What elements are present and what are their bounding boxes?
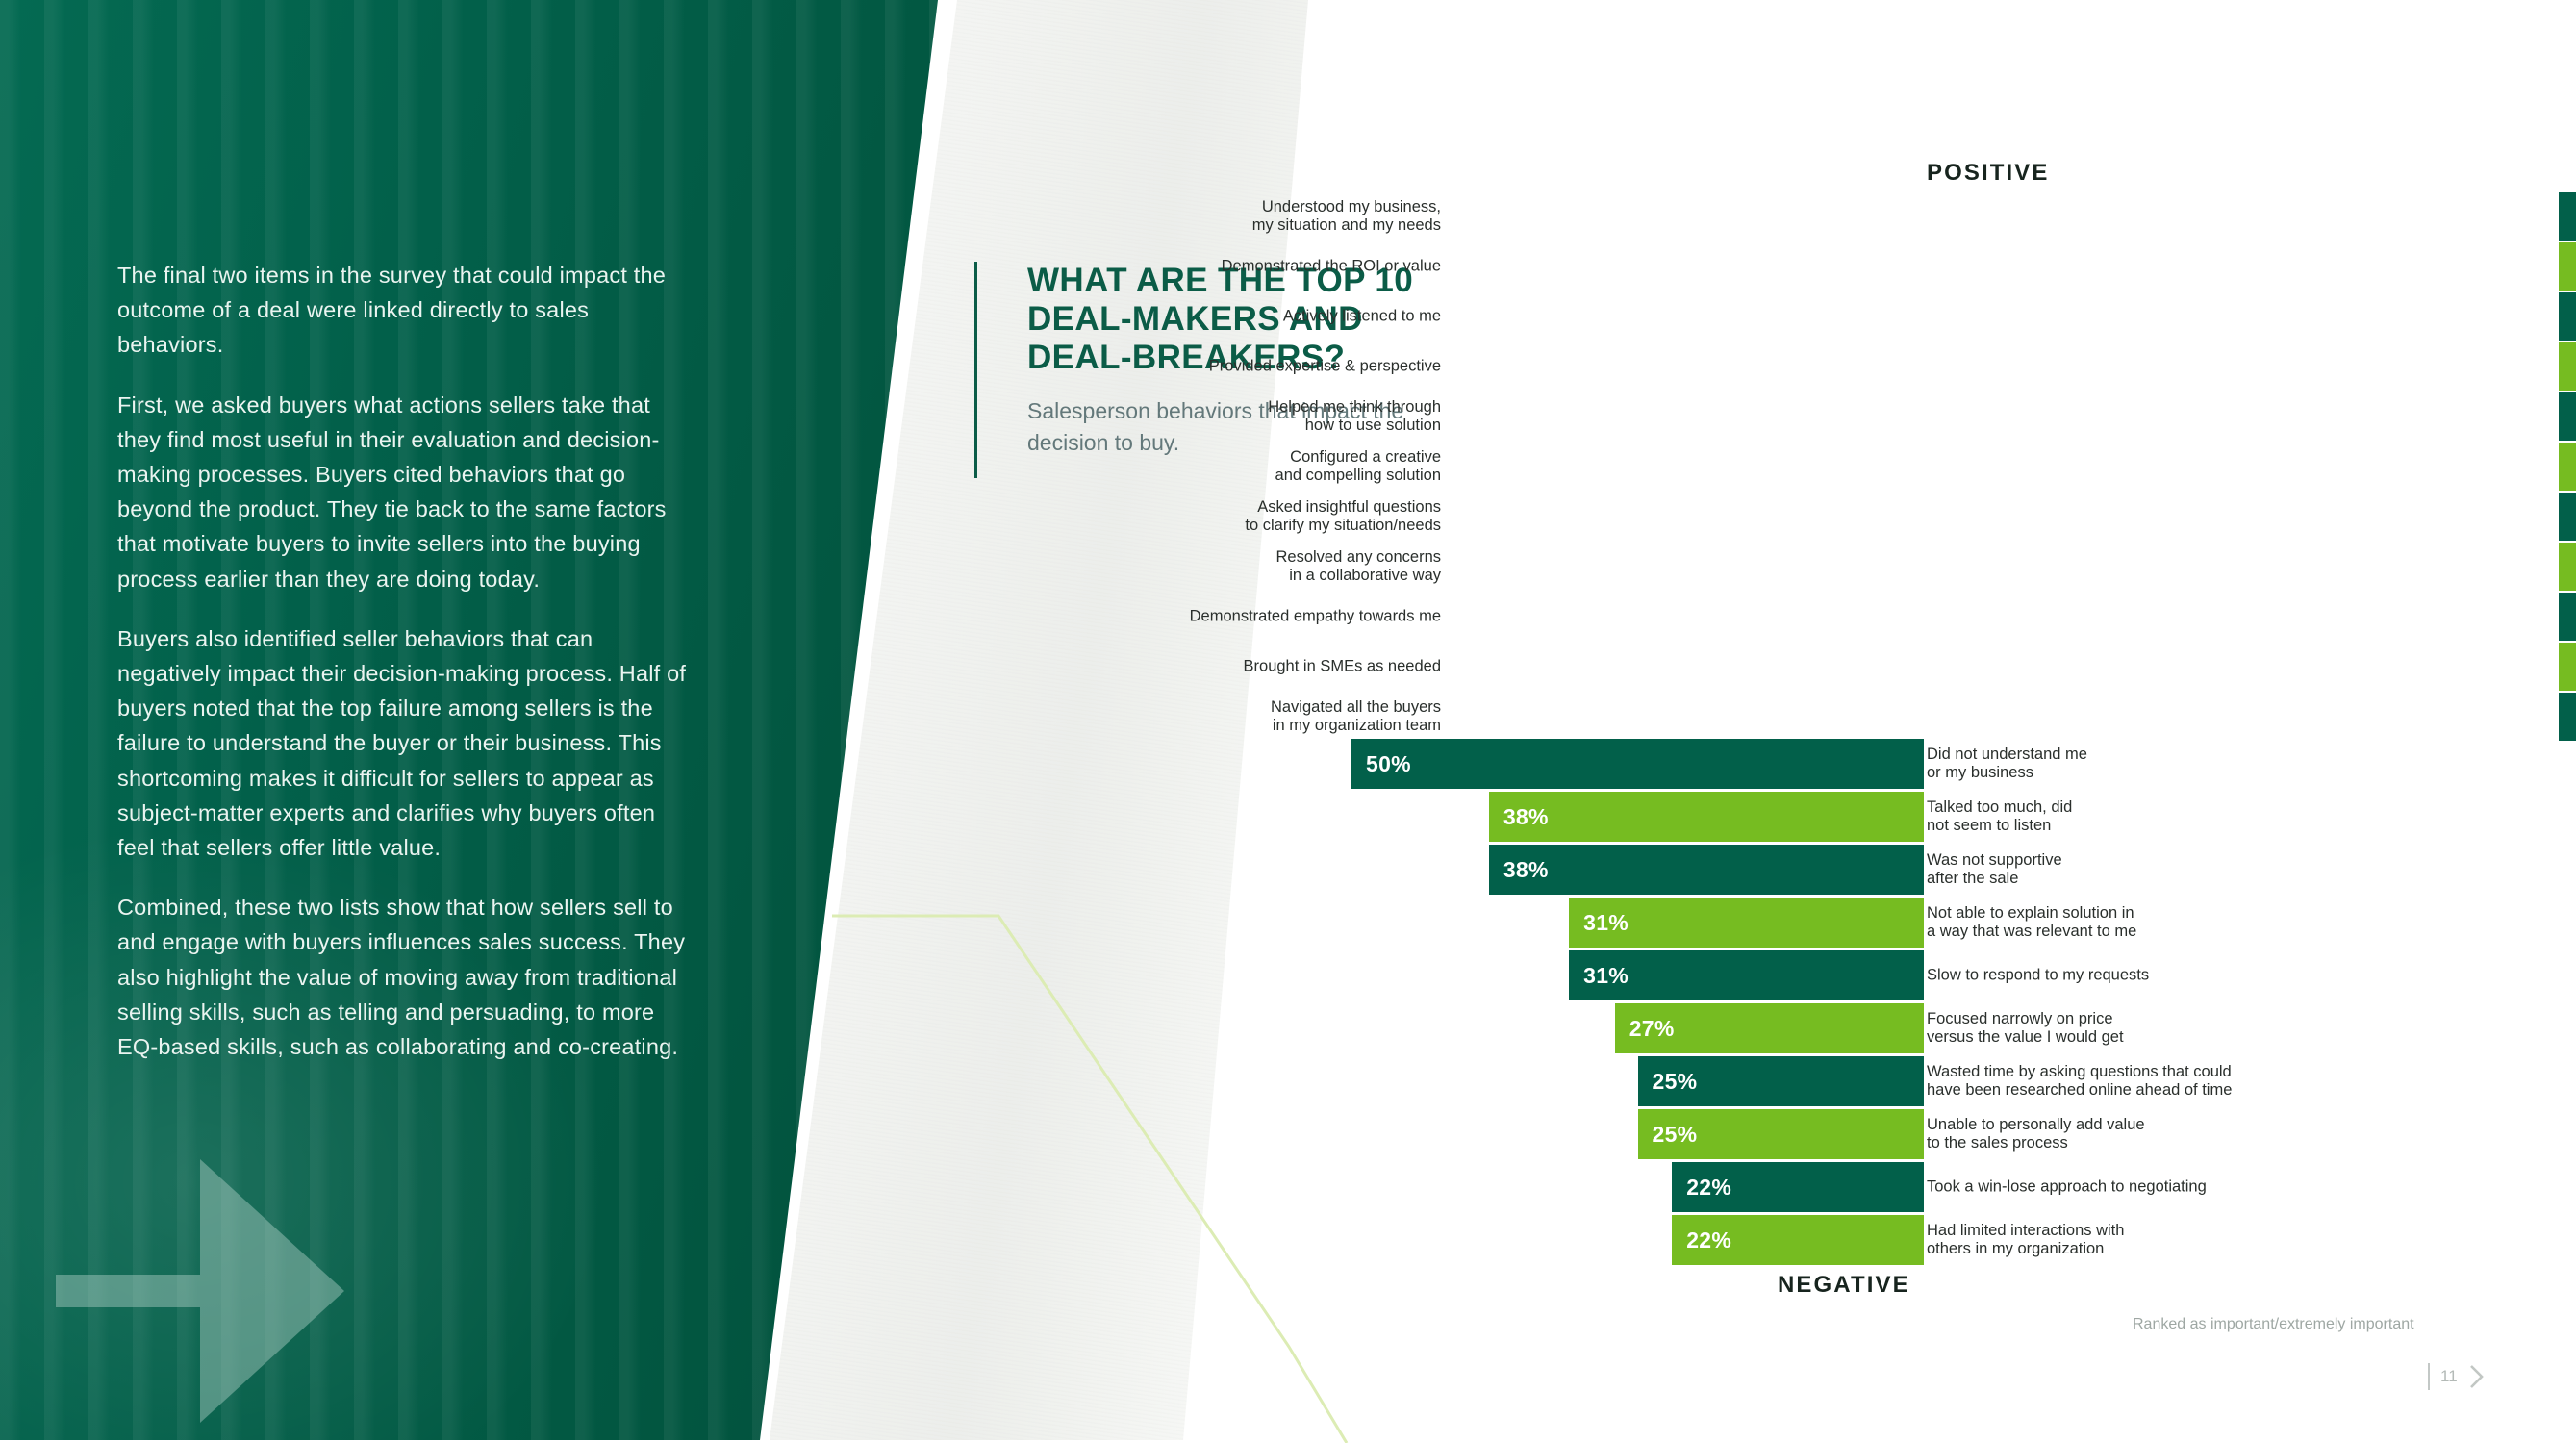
negative-bar: 22%: [1672, 1215, 1924, 1265]
negative-bar-row: 50%Did not understand me or my business: [962, 739, 2559, 789]
negative-bar-row: 38%Talked too much, did not seem to list…: [962, 792, 2559, 842]
negative-bar-row: 31%Slow to respond to my requests: [962, 950, 2559, 1000]
negative-bar-row: 22%Had limited interactions with others …: [962, 1215, 2559, 1265]
page-rule: [2428, 1363, 2430, 1390]
positive-bar-group: Understood my business, my situation and…: [1443, 192, 2559, 743]
negative-bar-value: 31%: [1569, 910, 1629, 936]
negative-bar-value: 22%: [1672, 1228, 1731, 1253]
negative-bar-row: 25%Unable to personally add value to the…: [962, 1109, 2559, 1159]
negative-bar: 31%: [1569, 898, 1924, 948]
positive-bar-label: Demonstrated the ROI or value: [864, 258, 1441, 276]
negative-bar-row: 31%Not able to explain solution in a way…: [962, 898, 2559, 948]
positive-bar-row: Provided expertise & perspective39%: [1443, 342, 2559, 391]
negative-bar-label: Did not understand me or my business: [1927, 746, 2542, 782]
chart-area: POSITIVE Understood my business, my situ…: [0, 0, 2576, 1440]
positive-bar: 27%: [2559, 643, 2576, 691]
positive-bar: 39%: [2559, 292, 2576, 341]
negative-bar: 25%: [1638, 1056, 1925, 1106]
negative-bar-value: 25%: [1638, 1122, 1698, 1148]
negative-bar-label: Was not supportive after the sale: [1927, 851, 2542, 888]
negative-bar-value: 38%: [1489, 857, 1549, 883]
negative-bar-row: 38%Was not supportive after the sale: [962, 845, 2559, 895]
page-marker: 11: [2428, 1363, 2485, 1390]
negative-bar: 27%: [1615, 1003, 1924, 1053]
positive-bar-row: Configured a creative and compelling sol…: [1443, 443, 2559, 491]
positive-bar: 32%: [2559, 443, 2576, 491]
page-number: 11: [2440, 1367, 2458, 1386]
positive-bar-label: Helped me think through how to use solut…: [864, 398, 1441, 435]
negative-bar: 22%: [1672, 1162, 1924, 1212]
positive-section-title: POSITIVE: [1927, 160, 2050, 187]
positive-bar-row: Helped me think through how to use solut…: [1443, 392, 2559, 441]
negative-bar-label: Had limited interactions with others in …: [1927, 1222, 2542, 1258]
negative-bar-value: 50%: [1351, 751, 1411, 777]
positive-bar-row: Navigated all the buyers in my organizat…: [1443, 693, 2559, 741]
negative-bar-row: 25%Wasted time by asking questions that …: [962, 1056, 2559, 1106]
negative-bar-value: 25%: [1638, 1069, 1698, 1095]
negative-bar: 50%: [1351, 739, 1924, 789]
negative-bar-row: 27%Focused narrowly on price versus the …: [962, 1003, 2559, 1053]
positive-bar: 25%: [2559, 693, 2576, 741]
negative-bar: 25%: [1638, 1109, 1925, 1159]
positive-bar-label: Navigated all the buyers in my organizat…: [864, 698, 1441, 735]
positive-bar-row: Actively listened to me39%: [1443, 292, 2559, 341]
negative-bar-value: 31%: [1569, 963, 1629, 989]
positive-bar-label: Understood my business, my situation and…: [864, 198, 1441, 235]
negative-bar-value: 22%: [1672, 1175, 1731, 1201]
negative-bar-label: Wasted time by asking questions that cou…: [1927, 1063, 2542, 1100]
positive-bar-row: Resolved any concerns in a collaborative…: [1443, 543, 2559, 591]
positive-bar-label: Configured a creative and compelling sol…: [864, 448, 1441, 485]
negative-bar-row: 22%Took a win-lose approach to negotiati…: [962, 1162, 2559, 1212]
negative-bar-label: Talked too much, did not seem to listen: [1927, 798, 2542, 835]
positive-bar-row: Demonstrated empathy towards me27%: [1443, 593, 2559, 641]
negative-bar-value: 27%: [1615, 1016, 1675, 1042]
positive-bar: 39%: [2559, 342, 2576, 391]
positive-bar: 55%: [2559, 192, 2576, 240]
positive-bar: 30%: [2559, 493, 2576, 541]
positive-bar-row: Brought in SMEs as needed27%: [1443, 643, 2559, 691]
negative-bar-label: Took a win-lose approach to negotiating: [1927, 1178, 2542, 1197]
positive-bar-label: Provided expertise & perspective: [864, 358, 1441, 376]
positive-bar-row: Asked insightful questions to clarify my…: [1443, 493, 2559, 541]
ranked-note: Ranked as important/extremely important: [2133, 1316, 2414, 1333]
negative-bar-label: Unable to personally add value to the sa…: [1927, 1116, 2542, 1152]
positive-bar-label: Brought in SMEs as needed: [864, 658, 1441, 676]
negative-bar-value: 38%: [1489, 804, 1549, 830]
positive-bar-row: Demonstrated the ROI or value40%: [1443, 242, 2559, 291]
negative-section-title: NEGATIVE: [1778, 1272, 1910, 1299]
positive-bar-label: Actively listened to me: [864, 308, 1441, 326]
negative-bar-group: 50%Did not understand me or my business3…: [962, 739, 2559, 1268]
negative-bar-label: Slow to respond to my requests: [1927, 967, 2542, 985]
positive-bar-label: Resolved any concerns in a collaborative…: [864, 548, 1441, 585]
negative-bar: 31%: [1569, 950, 1924, 1000]
negative-bar: 38%: [1489, 845, 1924, 895]
negative-bar-label: Focused narrowly on price versus the val…: [1927, 1010, 2542, 1047]
positive-bar-label: Asked insightful questions to clarify my…: [864, 498, 1441, 535]
negative-bar: 38%: [1489, 792, 1924, 842]
positive-bar: 29%: [2559, 543, 2576, 591]
positive-bar: 40%: [2559, 242, 2576, 291]
positive-bar-label: Demonstrated empathy towards me: [864, 608, 1441, 626]
positive-bar: 27%: [2559, 593, 2576, 641]
positive-bar: 33%: [2559, 392, 2576, 441]
negative-bar-label: Not able to explain solution in a way th…: [1927, 904, 2542, 941]
chevron-right-icon[interactable]: [2468, 1364, 2485, 1389]
positive-bar-row: Understood my business, my situation and…: [1443, 192, 2559, 240]
